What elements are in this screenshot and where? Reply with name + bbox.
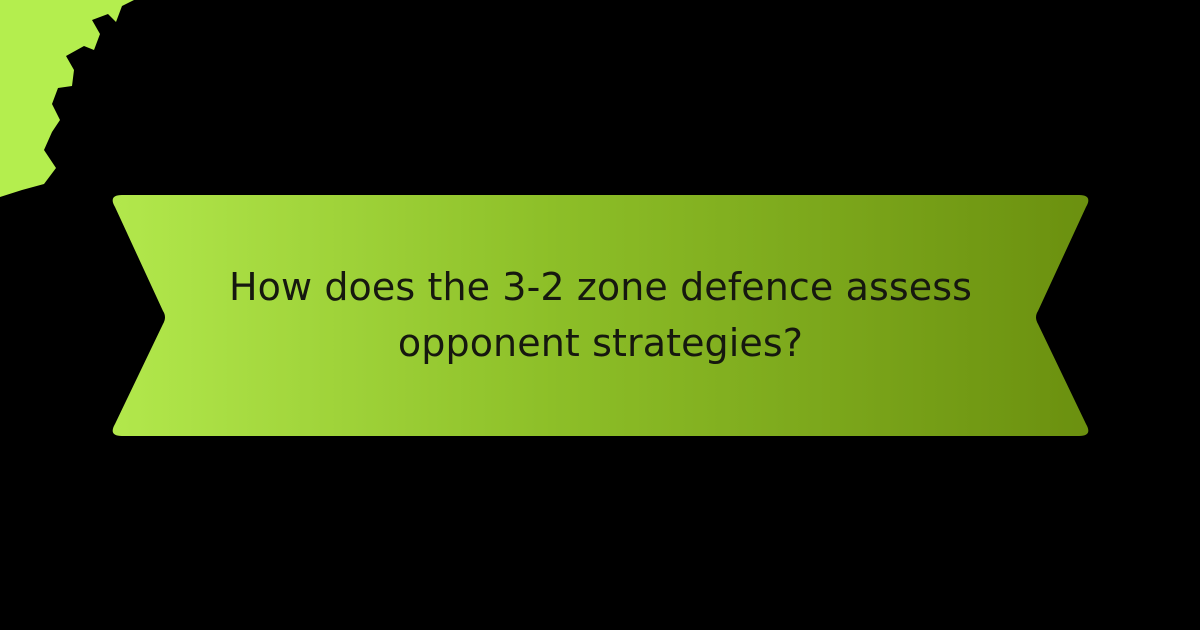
- question-text: How does the 3-2 zone defence assess opp…: [228, 260, 973, 370]
- question-text-block: How does the 3-2 zone defence assess opp…: [108, 193, 1093, 438]
- question-banner: How does the 3-2 zone defence assess opp…: [108, 193, 1093, 438]
- poster-canvas: How does the 3-2 zone defence assess opp…: [0, 0, 1200, 630]
